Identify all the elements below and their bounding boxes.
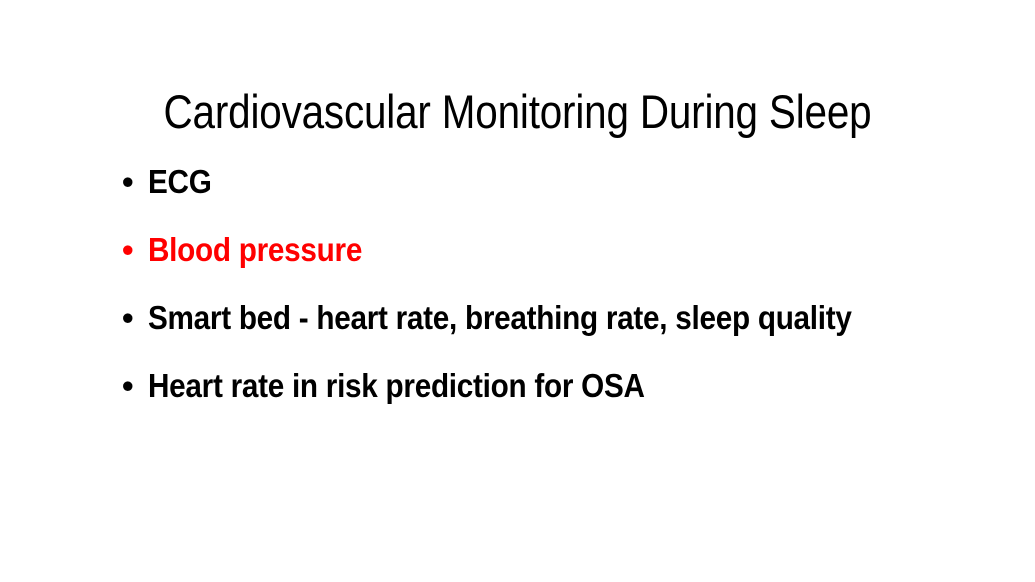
list-item-label: Heart rate in risk prediction for OSA [148, 360, 913, 412]
page-title: Cardiovascular Monitoring During Sleep [72, 83, 962, 141]
list-item: • Heart rate in risk prediction for OSA [122, 360, 912, 412]
bullet-list: • ECG • Blood pressure • Smart bed - hea… [122, 156, 912, 412]
bullet-point-icon: • [122, 360, 148, 412]
list-item: • ECG [122, 156, 912, 208]
list-item-label: Blood pressure [148, 224, 913, 276]
bullet-point-icon: • [122, 156, 148, 208]
bullet-point-icon: • [122, 292, 148, 344]
list-item-label: ECG [148, 156, 913, 208]
list-item: • Smart bed - heart rate, breathing rate… [122, 292, 912, 344]
presentation-slide: Cardiovascular Monitoring During Sleep •… [0, 0, 1035, 582]
list-item: • Blood pressure [122, 224, 912, 276]
list-item-label: Smart bed - heart rate, breathing rate, … [148, 292, 913, 344]
bullet-point-icon: • [122, 224, 148, 276]
